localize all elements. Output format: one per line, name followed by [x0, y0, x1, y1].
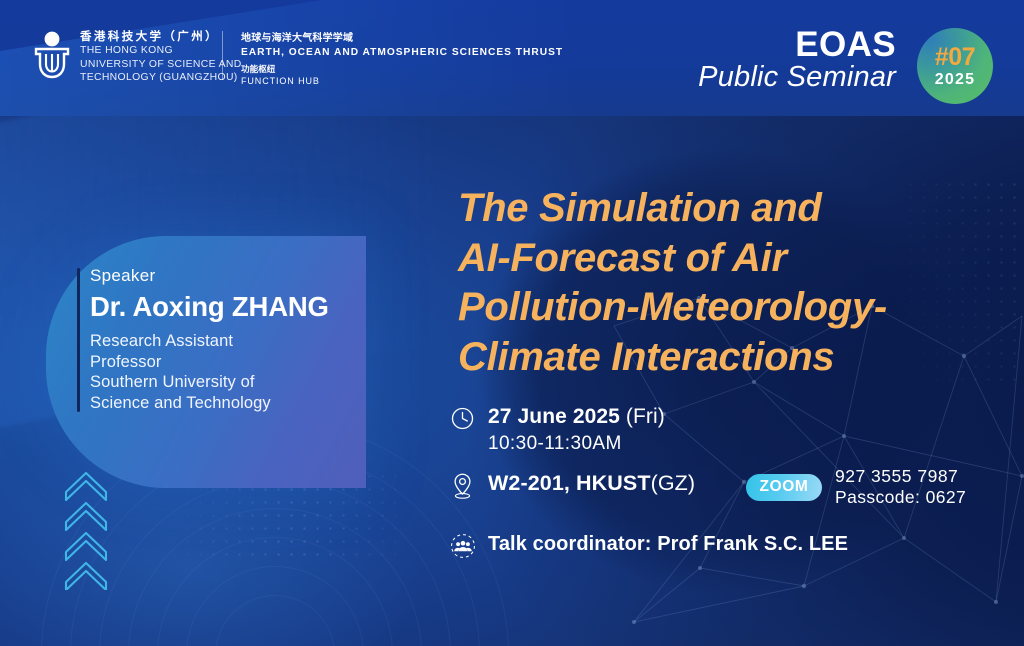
speaker-affiliation-line-3: Southern University of [90, 372, 329, 393]
page-title: The Simulation and AI-Forecast of Air Po… [458, 184, 1006, 382]
issue-badge: #07 2025 [917, 28, 993, 104]
event-venue-value: W2-201, HKUST [488, 471, 651, 495]
talk-title-line-3: Pollution-Meteorology- [458, 283, 1006, 333]
event-details: 27 June 2025 (Fri) 10:30-11:30AM W2-201,… [450, 404, 1010, 564]
speaker-affiliation-line-1: Research Assistant [90, 331, 329, 352]
location-pin-icon [450, 470, 488, 505]
thrust-name-en: EARTH, OCEAN AND ATMOSPHERIC SCIENCES TH… [241, 46, 563, 59]
event-time: 10:30-11:30AM [488, 431, 665, 456]
thrust-name: 地球与海洋大气科学学域 EARTH, OCEAN AND ATMOSPHERIC… [241, 32, 563, 87]
speaker-affiliation: Research Assistant Professor Southern Un… [90, 331, 329, 413]
issue-number: #07 [935, 45, 975, 70]
header-divider [222, 31, 223, 79]
talk-coordinator: Talk coordinator: Prof Frank S.C. LEE [488, 531, 848, 557]
event-day-of-week: (Fri) [626, 405, 665, 428]
zoom-meeting-id: 927 3555 7987 [835, 466, 966, 487]
speaker-affiliation-line-4: Science and Technology [90, 393, 329, 414]
speaker-name: Dr. Aoxing ZHANG [90, 290, 329, 324]
speaker-info: Speaker Dr. Aoxing ZHANG Research Assist… [90, 265, 329, 413]
speaker-affiliation-line-2: Professor [90, 352, 329, 373]
university-name-en-3: TECHNOLOGY (GUANGZHOU) [80, 72, 242, 85]
seminar-poster: 香港科技大学（广州） THE HONG KONG UNIVERSITY OF S… [0, 0, 1024, 646]
zoom-credentials: 927 3555 7987 Passcode: 0627 [835, 466, 966, 508]
people-group-icon [450, 531, 488, 564]
university-name: 香港科技大学（广州） THE HONG KONG UNIVERSITY OF S… [80, 30, 242, 85]
university-name-cn: 香港科技大学（广州） [80, 30, 242, 44]
hkust-logo-icon [32, 30, 72, 80]
zoom-info-block: ZOOM 927 3555 7987 Passcode: 0627 [746, 466, 966, 508]
talk-title-line-4: Climate Interactions [458, 333, 1006, 383]
clock-icon [450, 404, 488, 436]
speaker-accent-rule [77, 268, 80, 412]
chevron-up-stack-icon [62, 470, 118, 590]
function-hub-cn: 功能枢纽 [241, 63, 563, 75]
datetime-text: 27 June 2025 (Fri) 10:30-11:30AM [488, 404, 665, 456]
event-date: 27 June 2025 (Fri) [488, 404, 665, 429]
zoom-badge: ZOOM [746, 474, 822, 501]
event-venue: W2-201, HKUST(GZ) [488, 470, 695, 496]
thrust-name-cn: 地球与海洋大气科学学域 [241, 32, 563, 45]
venue-text: W2-201, HKUST(GZ) [488, 470, 695, 496]
talk-title-line-2: AI-Forecast of Air [458, 234, 1006, 284]
venue-row: W2-201, HKUST(GZ) ZOOM 927 3555 7987 Pas… [450, 470, 1010, 505]
datetime-row: 27 June 2025 (Fri) 10:30-11:30AM [450, 404, 1010, 456]
university-name-en-1: THE HONG KONG [80, 45, 242, 58]
event-date-value: 27 June 2025 [488, 405, 620, 428]
function-hub-en: FUNCTION HUB [241, 75, 563, 87]
series-subtitle: Public Seminar [698, 61, 896, 94]
series-title: EOAS [698, 26, 896, 63]
university-name-en-2: UNIVERSITY OF SCIENCE AND [80, 59, 242, 72]
talk-title-line-1: The Simulation and [458, 184, 1006, 234]
series-branding: EOAS Public Seminar [698, 26, 896, 94]
coordinator-text: Talk coordinator: Prof Frank S.C. LEE [488, 531, 848, 557]
event-venue-suffix: (GZ) [651, 471, 696, 495]
coordinator-row: Talk coordinator: Prof Frank S.C. LEE [450, 531, 1010, 564]
speaker-label: Speaker [90, 265, 329, 286]
zoom-passcode: Passcode: 0627 [835, 487, 966, 508]
issue-year: 2025 [935, 71, 975, 88]
